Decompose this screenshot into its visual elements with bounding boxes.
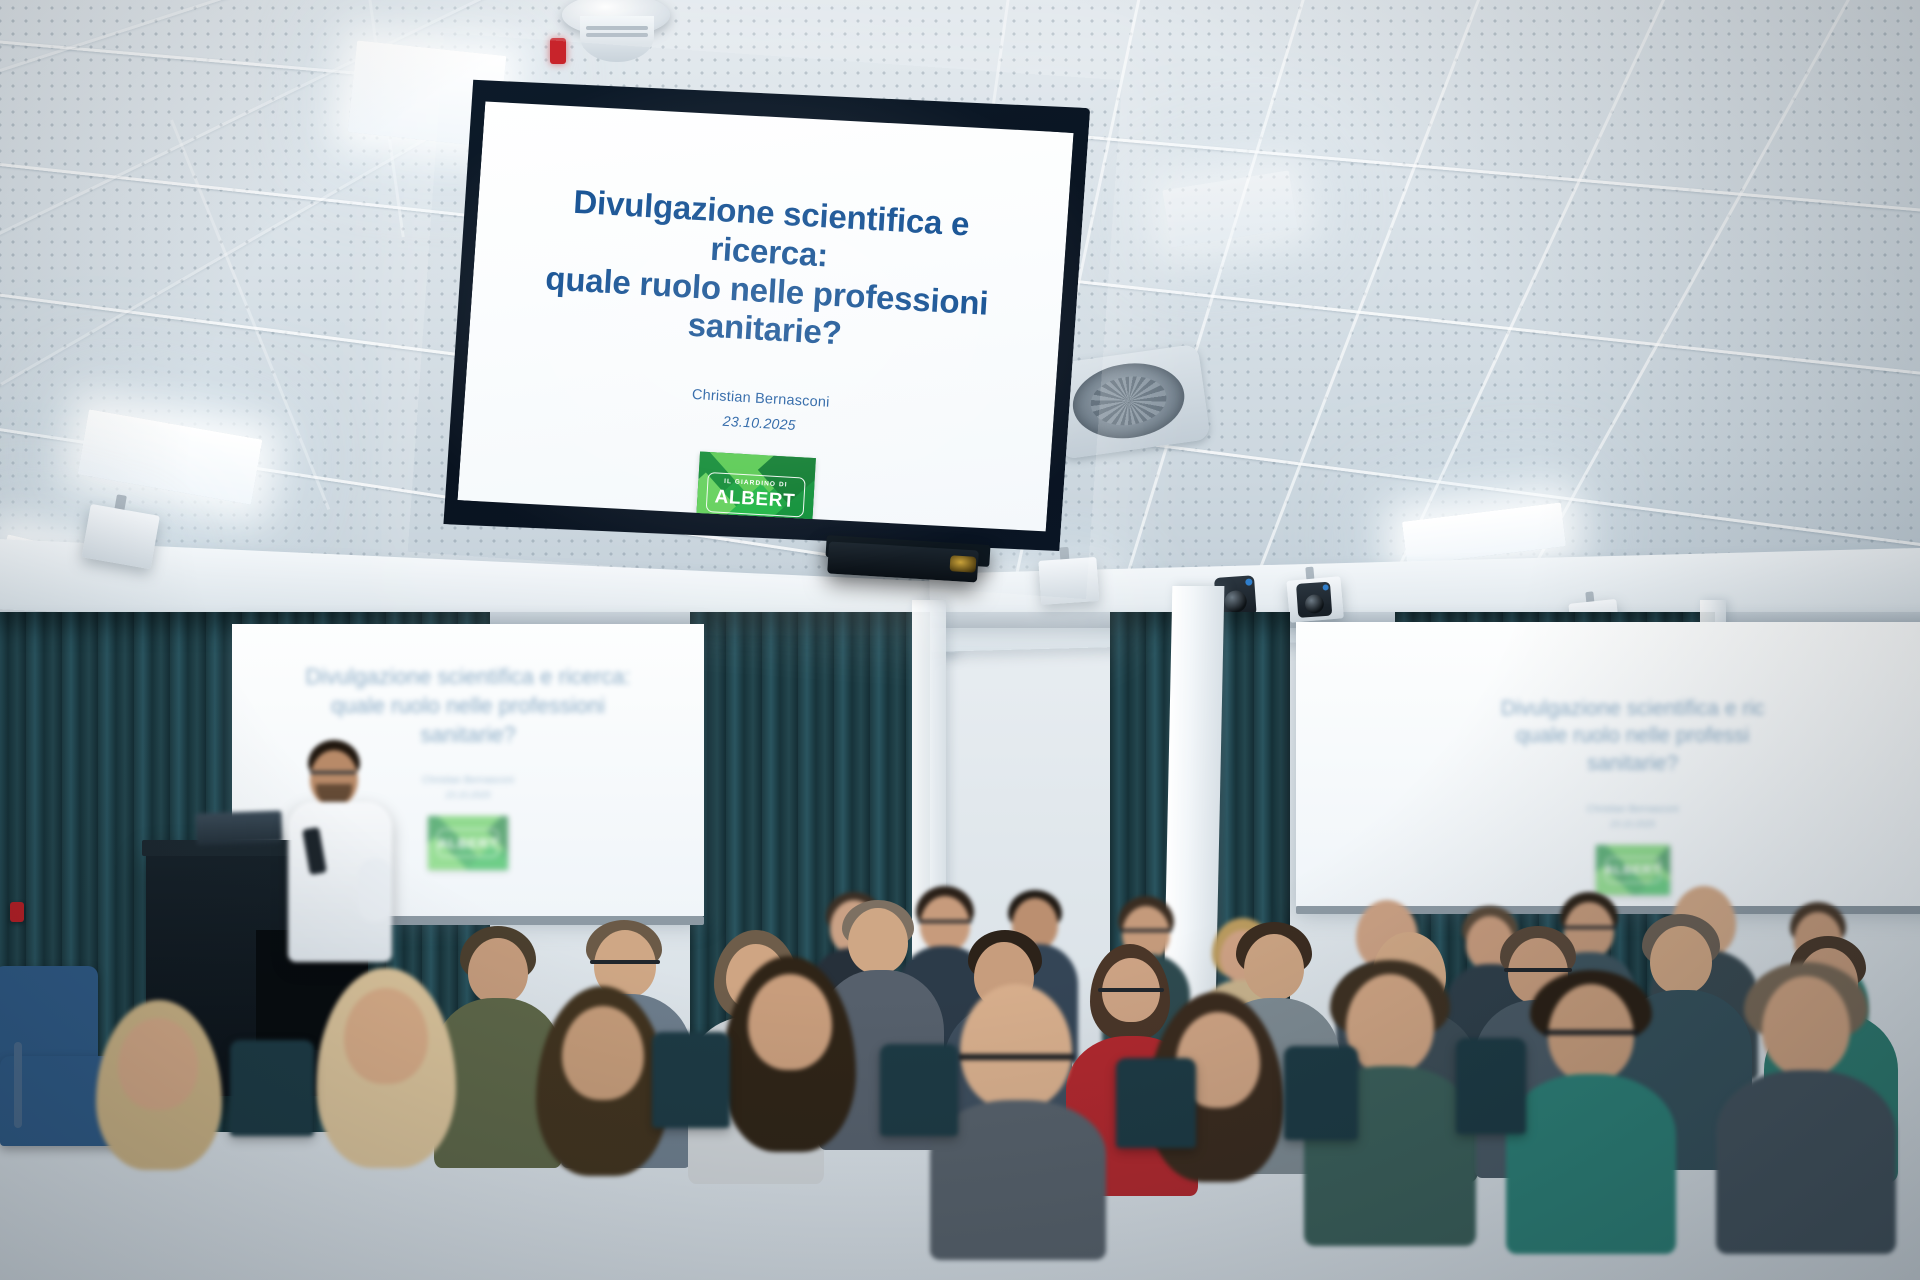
- chair: [652, 1032, 730, 1128]
- slide-title-line3: sanitarie?: [687, 306, 843, 352]
- tv-screen: Divulgazione scientifica e ricerca: qual…: [458, 92, 1074, 541]
- right-projection-screen: Divulgazione scientifica e ric quale ruo…: [1296, 622, 1920, 906]
- chair: [1456, 1038, 1526, 1134]
- ceiling-mounted-tv: Divulgazione scientifica e ricerca: qual…: [440, 65, 1091, 567]
- title-slide: Divulgazione scientifica e ricerca: qual…: [460, 95, 1072, 538]
- slide-title: Divulgazione scientifica e ricerca: qual…: [511, 180, 1026, 363]
- chair: [880, 1044, 958, 1136]
- albert-logo: ALBERT: [428, 816, 508, 870]
- laptop: [195, 811, 282, 846]
- presenter-glasses: [310, 771, 356, 774]
- chair-leg: [14, 1042, 22, 1128]
- right-screen-title-line1: Divulgazione scientifica e ric: [1501, 697, 1765, 720]
- left-screen-title-line3: sanitarie?: [420, 722, 515, 747]
- wall-fire-alarm-icon: [10, 902, 24, 922]
- right-screen-title-line2: quale ruolo nelle professi: [1516, 724, 1749, 747]
- presenter-arm: [358, 858, 392, 922]
- slide-title-line1: Divulgazione scientifica e ricerca:: [573, 183, 971, 273]
- chair: [230, 1040, 314, 1136]
- right-screen-title-line3: sanitarie?: [1587, 752, 1678, 775]
- albert-logo-text: ALBERT: [1604, 863, 1660, 876]
- chair: [1284, 1046, 1358, 1140]
- albert-logo: ALBERT: [1596, 845, 1670, 895]
- conference-room-photo: Divulgazione scientifica e ricerca: qual…: [0, 0, 1920, 1280]
- presenter: [282, 740, 402, 970]
- chair: [1116, 1058, 1196, 1148]
- logo-rounded-frame: IL GIARDINO DI ALBERT: [705, 472, 805, 518]
- albert-logo-text: ALBERT: [714, 487, 796, 511]
- left-screen-title-line2: quale ruolo nelle professioni: [331, 693, 605, 718]
- left-screen-title-line1: Divulgazione scientifica e ricerca:: [305, 664, 630, 689]
- right-screen-author: Christian Bernasconi: [1336, 804, 1920, 815]
- smoke-detector: [556, 0, 696, 60]
- projector-lens: [950, 555, 977, 573]
- right-screen-date: 23.10.2025: [1336, 819, 1920, 829]
- albert-logo-text: ALBERT: [438, 836, 498, 850]
